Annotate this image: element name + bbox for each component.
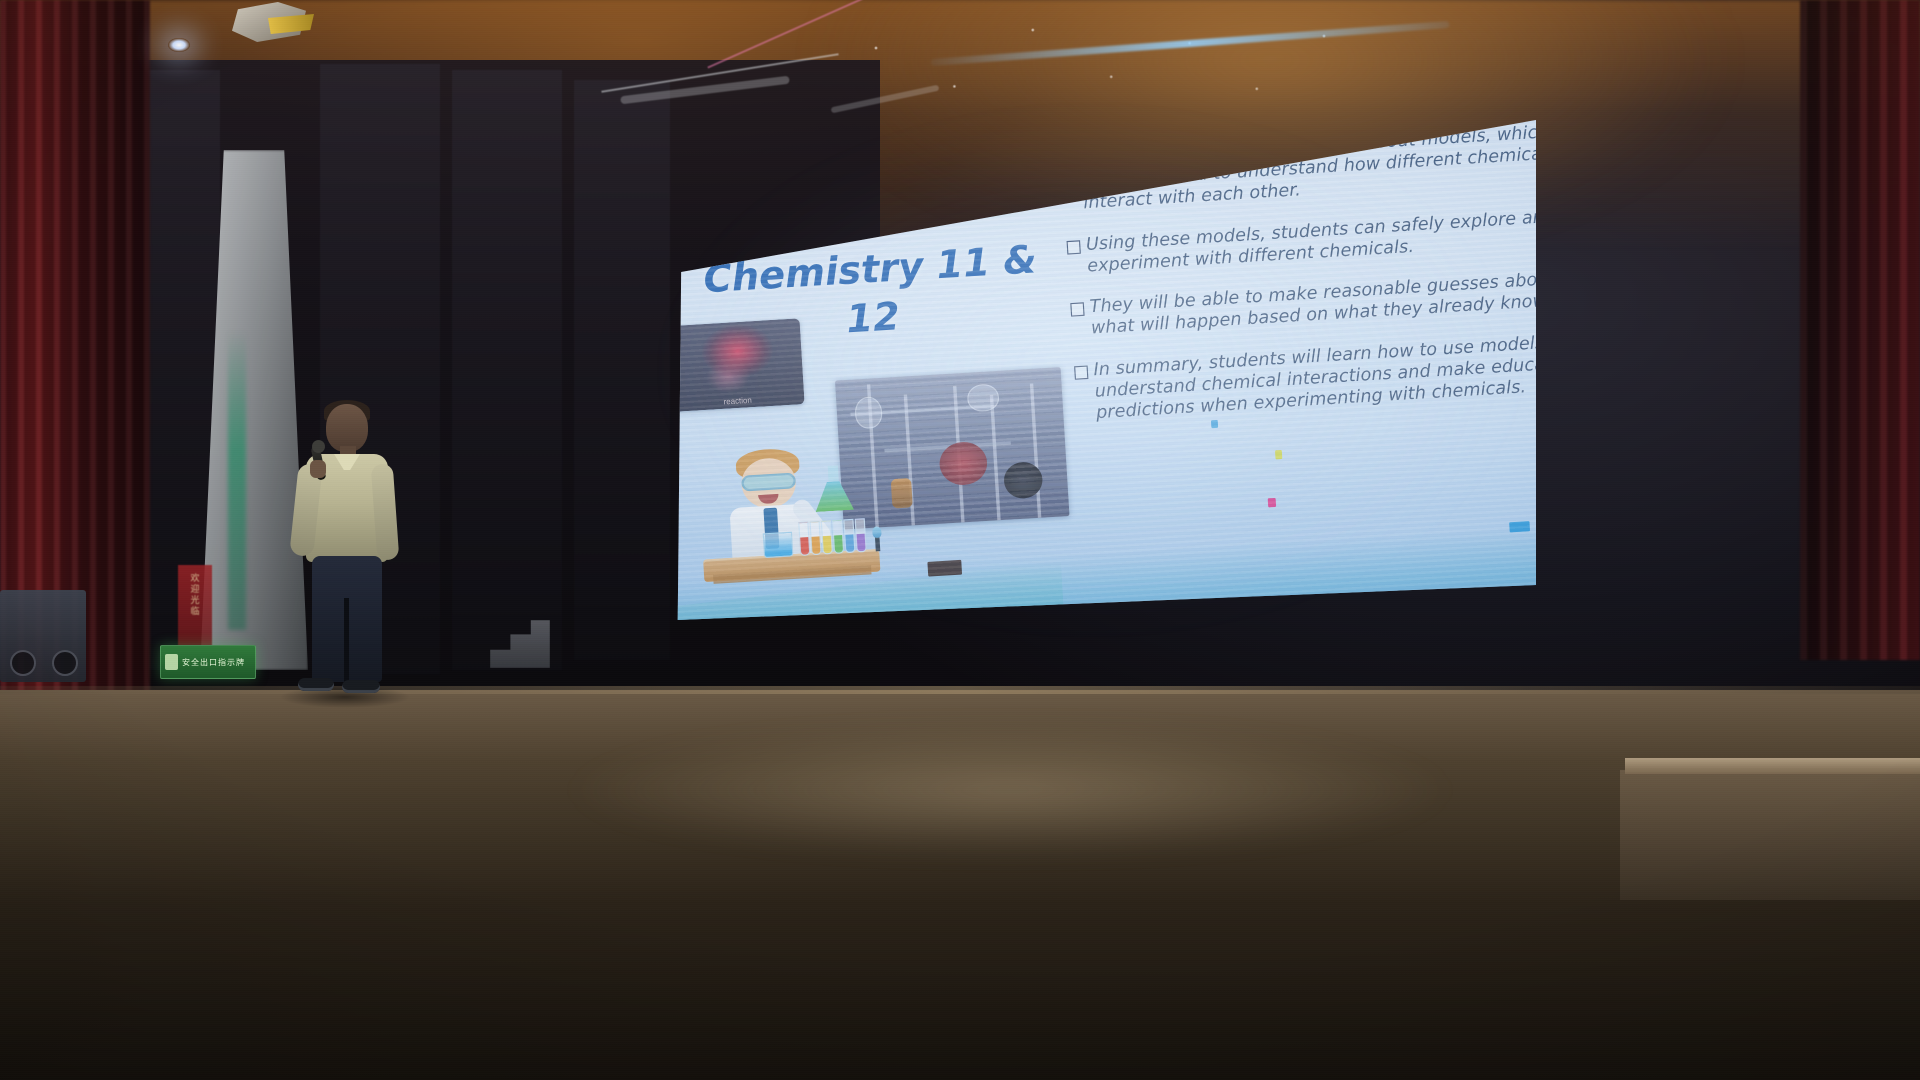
presenter-hand (310, 460, 326, 478)
presenter-leg-gap (344, 598, 349, 682)
presentation-photo-scene: 欢迎光临 安全出口指示牌 (0, 0, 1920, 1080)
flame-icon (872, 526, 882, 538)
microphone-head-icon (312, 440, 325, 453)
bullet-text: Using these models, students can safely … (1085, 205, 1536, 278)
stuck-pixel (1275, 450, 1282, 459)
stuck-pixel (1509, 521, 1530, 532)
ceiling-lamp (168, 38, 190, 52)
slide-bullet-list: In this class, students will learn about… (1061, 120, 1536, 444)
bullet-item: Using these models, students can safely … (1066, 205, 1536, 279)
stuck-pixel (927, 560, 962, 577)
slide-clipart-scientist (694, 441, 882, 585)
slide-photo-reaction: reaction (676, 318, 805, 412)
test-tube (798, 522, 810, 556)
presenter-shoe-left (298, 678, 334, 691)
checkbox-bullet-icon (1061, 156, 1075, 170)
exit-icon (165, 654, 178, 670)
wall-panel (452, 70, 562, 670)
curtain-folds (1800, 0, 1920, 660)
photo-caption: reaction (676, 394, 805, 410)
stuck-pixel (1268, 498, 1276, 507)
beaker-icon (763, 532, 794, 559)
wall-panel (574, 80, 670, 660)
sparkle-decoration (820, 0, 1380, 120)
presenter-shoe-right (342, 680, 380, 693)
exit-sign-text: 安全出口指示牌 (182, 657, 245, 668)
case-wheel (52, 650, 78, 676)
bullet-text: In this class, students will learn about… (1080, 120, 1536, 214)
floor-light-sheen (420, 700, 1600, 880)
presentation-slide: Chemistry 11 & 12 reaction (676, 120, 1536, 620)
bullet-item: In summary, students will learn how to u… (1074, 330, 1536, 425)
checkbox-bullet-icon (1074, 365, 1088, 379)
stuck-pixel (1211, 420, 1218, 428)
presenter (286, 398, 404, 698)
bullet-item: In this class, students will learn about… (1061, 120, 1536, 215)
safety-goggles-icon (741, 473, 796, 492)
test-tube (832, 519, 844, 553)
banner-text: 欢迎光临 (189, 573, 202, 617)
test-tube (855, 518, 867, 552)
bullet-text: In summary, students will learn how to u… (1093, 330, 1536, 424)
flask-icon (813, 465, 854, 512)
stuck-pixel (1057, 160, 1064, 168)
test-tube (809, 521, 821, 555)
test-tube (843, 519, 855, 553)
stage-apron-block (1620, 770, 1920, 900)
test-tube (821, 520, 833, 554)
test-tube-rack (798, 518, 865, 556)
stage-curtain-right (1800, 0, 1920, 660)
flask-neck (828, 465, 839, 484)
presenter-head (326, 404, 368, 452)
bullet-text: They will be able to make reasonable gue… (1089, 267, 1536, 340)
checkbox-bullet-icon (1067, 240, 1081, 254)
flask-body (814, 480, 854, 512)
green-drape-stripe (228, 330, 246, 630)
exit-sign: 安全出口指示牌 (160, 645, 256, 679)
checkbox-bullet-icon (1070, 302, 1084, 316)
projection-screen: Chemistry 11 & 12 reaction (676, 120, 1536, 620)
slide-content: Chemistry 11 & 12 reaction (676, 120, 1536, 620)
case-wheel (10, 650, 36, 676)
stage-riser-top (1625, 758, 1920, 774)
stage-equipment-case (0, 590, 86, 682)
burner-icon (869, 526, 886, 552)
bullet-item: They will be able to make reasonable gue… (1070, 267, 1536, 341)
